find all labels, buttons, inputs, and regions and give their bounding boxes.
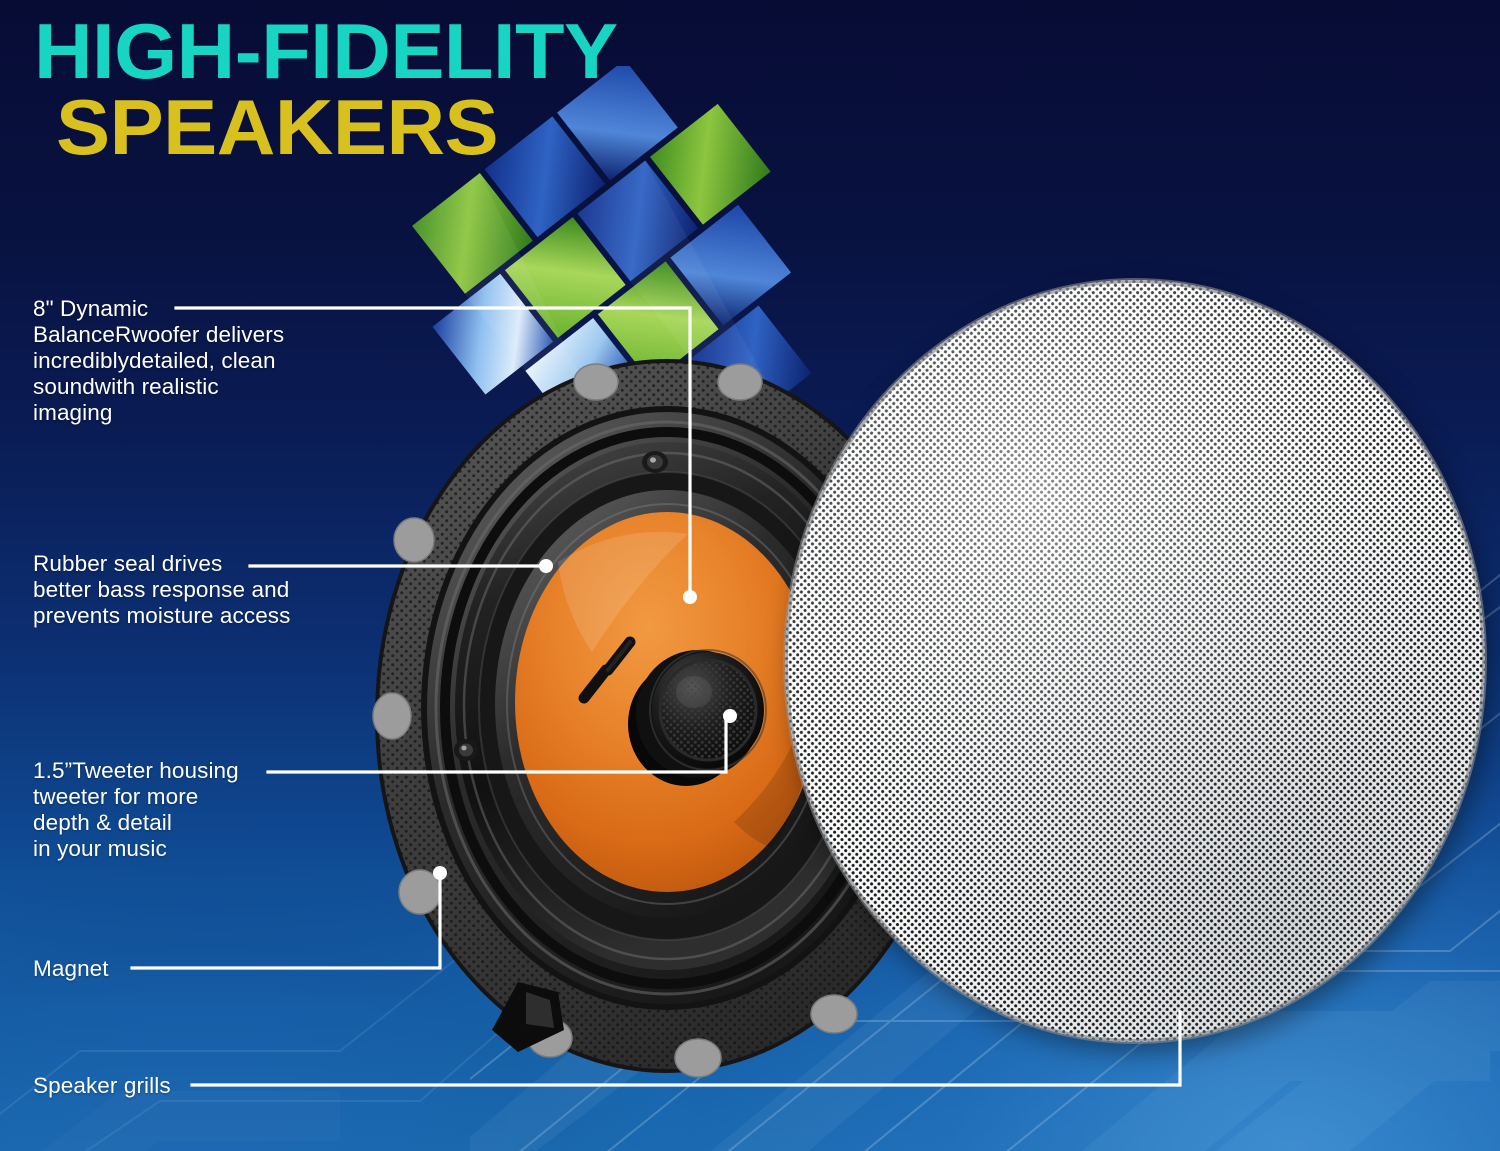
hotspot-rubber-seal bbox=[533, 553, 559, 579]
magnet-callout-text: Magnet bbox=[33, 956, 333, 982]
speaker-grills-callout-text: Speaker grills bbox=[33, 1073, 333, 1099]
speaker-grille-disc bbox=[785, 280, 1485, 1042]
rubber-seal-callout-text: Rubber seal drives better bass response … bbox=[33, 551, 333, 629]
page-title: HIGH-FIDELITY SPEAKERS bbox=[34, 16, 595, 162]
title-line-high-fidelity: HIGH-FIDELITY bbox=[34, 16, 618, 86]
hotspot-speaker-grille bbox=[1167, 997, 1193, 1023]
infographic-canvas: HIGH-FIDELITY SPEAKERS 8" Dynamic Balanc… bbox=[0, 0, 1500, 1151]
title-line-speakers: SPEAKERS bbox=[56, 92, 617, 162]
hotspot-magnet bbox=[427, 860, 453, 886]
hotspot-tweeter bbox=[717, 703, 743, 729]
tweeter-callout-text: 1.5”Tweeter housing tweeter for more dep… bbox=[33, 758, 333, 862]
grille-rim bbox=[785, 280, 1485, 1042]
woofer-callout-text: 8" Dynamic BalanceRwoofer delivers incre… bbox=[33, 296, 333, 426]
hotspot-woofer-cone bbox=[677, 584, 703, 610]
